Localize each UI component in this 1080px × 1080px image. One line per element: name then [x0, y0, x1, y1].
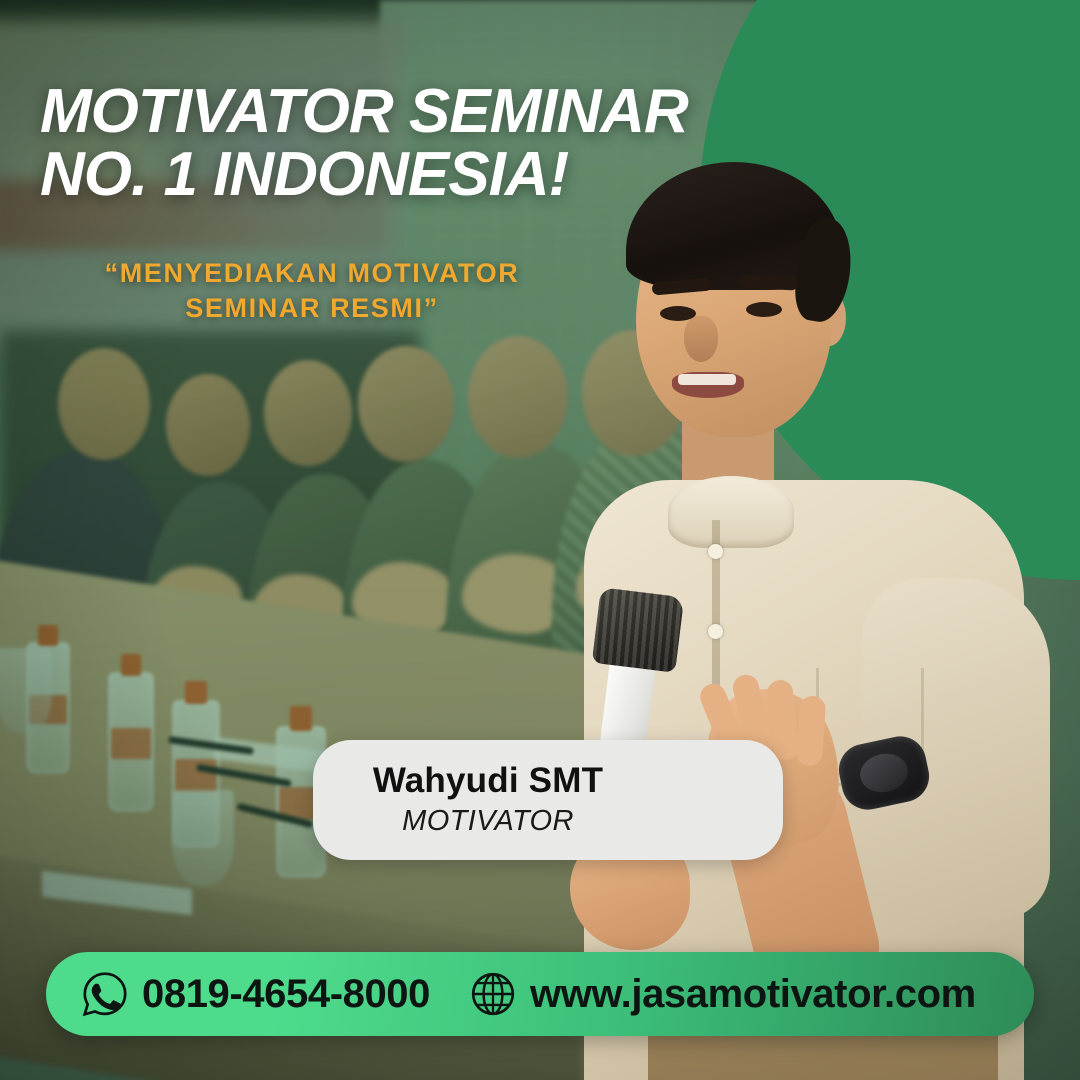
speaker-role: MOTIVATOR: [402, 804, 574, 839]
speaker-nose: [684, 316, 718, 362]
speaker-collar: [668, 476, 794, 548]
speaker-name-card-content: Wahyudi SMT MOTIVATOR: [313, 740, 663, 860]
contact-bar: 0819-4654-8000 www.jasamotivator.com: [46, 952, 1034, 1036]
tagline: “MENYEDIAKAN MOTIVATOR SEMINAR RESMI”: [52, 256, 572, 325]
speaker-teeth: [678, 374, 736, 385]
globe-icon: [468, 969, 518, 1019]
speaker-finger: [796, 695, 827, 767]
headline-line-1: MOTIVATOR SEMINAR: [40, 80, 860, 143]
contact-website[interactable]: www.jasamotivator.com: [468, 969, 976, 1019]
headline-line-2: NO. 1 INDONESIA!: [40, 143, 860, 206]
whatsapp-icon: [80, 969, 130, 1019]
tagline-line-1: “MENYEDIAKAN MOTIVATOR: [52, 256, 572, 291]
website-url: www.jasamotivator.com: [530, 972, 976, 1017]
speaker-eye: [746, 302, 782, 317]
promotional-poster: N GTM: [0, 0, 1080, 1080]
microphone-windscreen: [592, 587, 685, 673]
speaker-photo-wahyudi: [560, 140, 1080, 1080]
speaker-shirt-button: [708, 544, 723, 559]
speaker-shirt-button: [708, 624, 723, 639]
phone-number: 0819-4654-8000: [142, 972, 430, 1017]
speaker-name-card: Wahyudi SMT MOTIVATOR: [313, 740, 783, 860]
speaker-name: Wahyudi SMT: [373, 761, 603, 801]
tagline-line-2: SEMINAR RESMI”: [52, 291, 572, 326]
speaker-mouth: [672, 372, 744, 398]
contact-phone[interactable]: 0819-4654-8000: [80, 969, 430, 1019]
page-title: MOTIVATOR SEMINAR NO. 1 INDONESIA!: [40, 80, 860, 206]
